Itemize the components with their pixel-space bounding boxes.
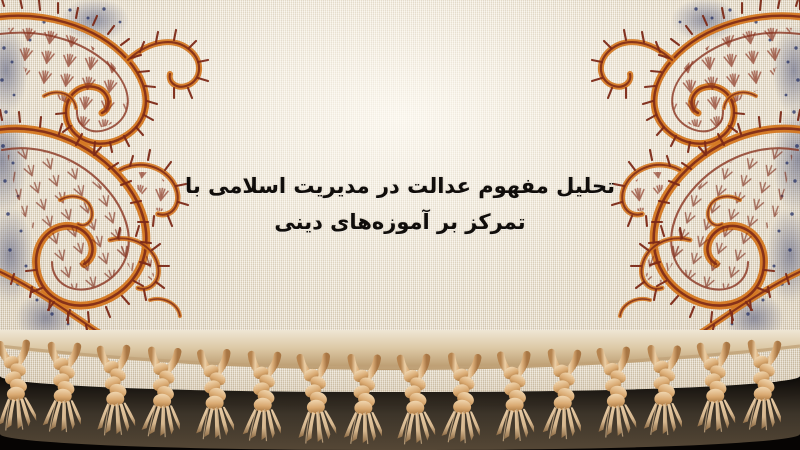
title-card-canvas: تحلیل مفهوم عدالت در مدیریت اسلامی با تم… <box>0 0 800 450</box>
title-line-2: تمرکز بر آموزه‌های دینی <box>120 204 680 240</box>
page-title: تحلیل مفهوم عدالت در مدیریت اسلامی با تم… <box>120 168 680 240</box>
title-line-1: تحلیل مفهوم عدالت در مدیریت اسلامی با <box>120 168 680 204</box>
